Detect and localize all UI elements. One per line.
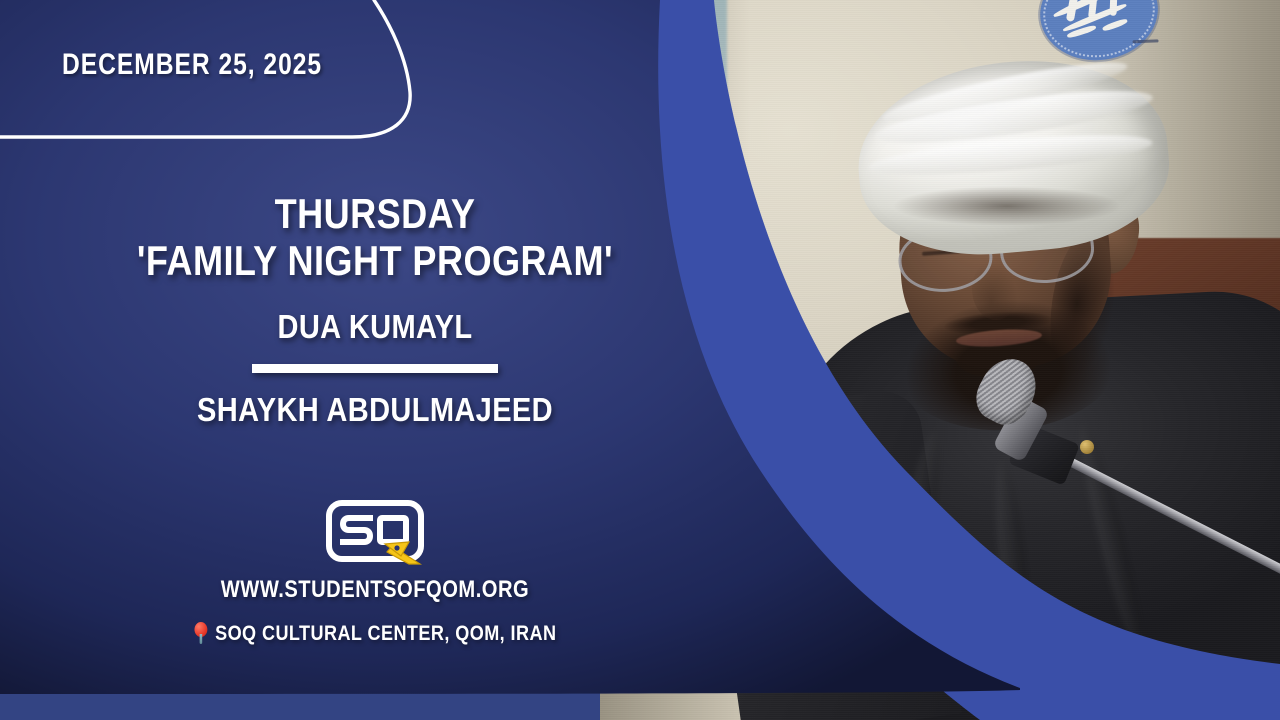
title-divider [252,364,498,373]
title-line-2: 'FAMILY NIGHT PROGRAM' [53,237,698,284]
map-pin-icon [194,622,207,644]
location-text: SOQ CULTURAL CENTER, QOM, IRAN [215,622,556,646]
soq-logo [323,498,427,570]
program-subtitle: DUA KUMAYL [45,308,705,346]
speaker-name: SHAYKH ABDULMAJEED [45,391,705,429]
title-line-1: THURSDAY [53,190,698,237]
logo-wrap [0,498,750,570]
divider-wrap [0,364,750,373]
event-date: DECEMBER 25, 2025 [62,48,322,82]
location-line: SOQ CULTURAL CENTER, QOM, IRAN [0,622,750,651]
flyer-canvas: DECEMBER 25, 2025 THURSDAY 'FAMILY NIGHT… [0,0,1280,720]
website-url[interactable]: WWW.STUDENTSOFQOM.ORG [60,576,690,604]
main-text-block: THURSDAY 'FAMILY NIGHT PROGRAM' DUA KUMA… [0,190,750,429]
